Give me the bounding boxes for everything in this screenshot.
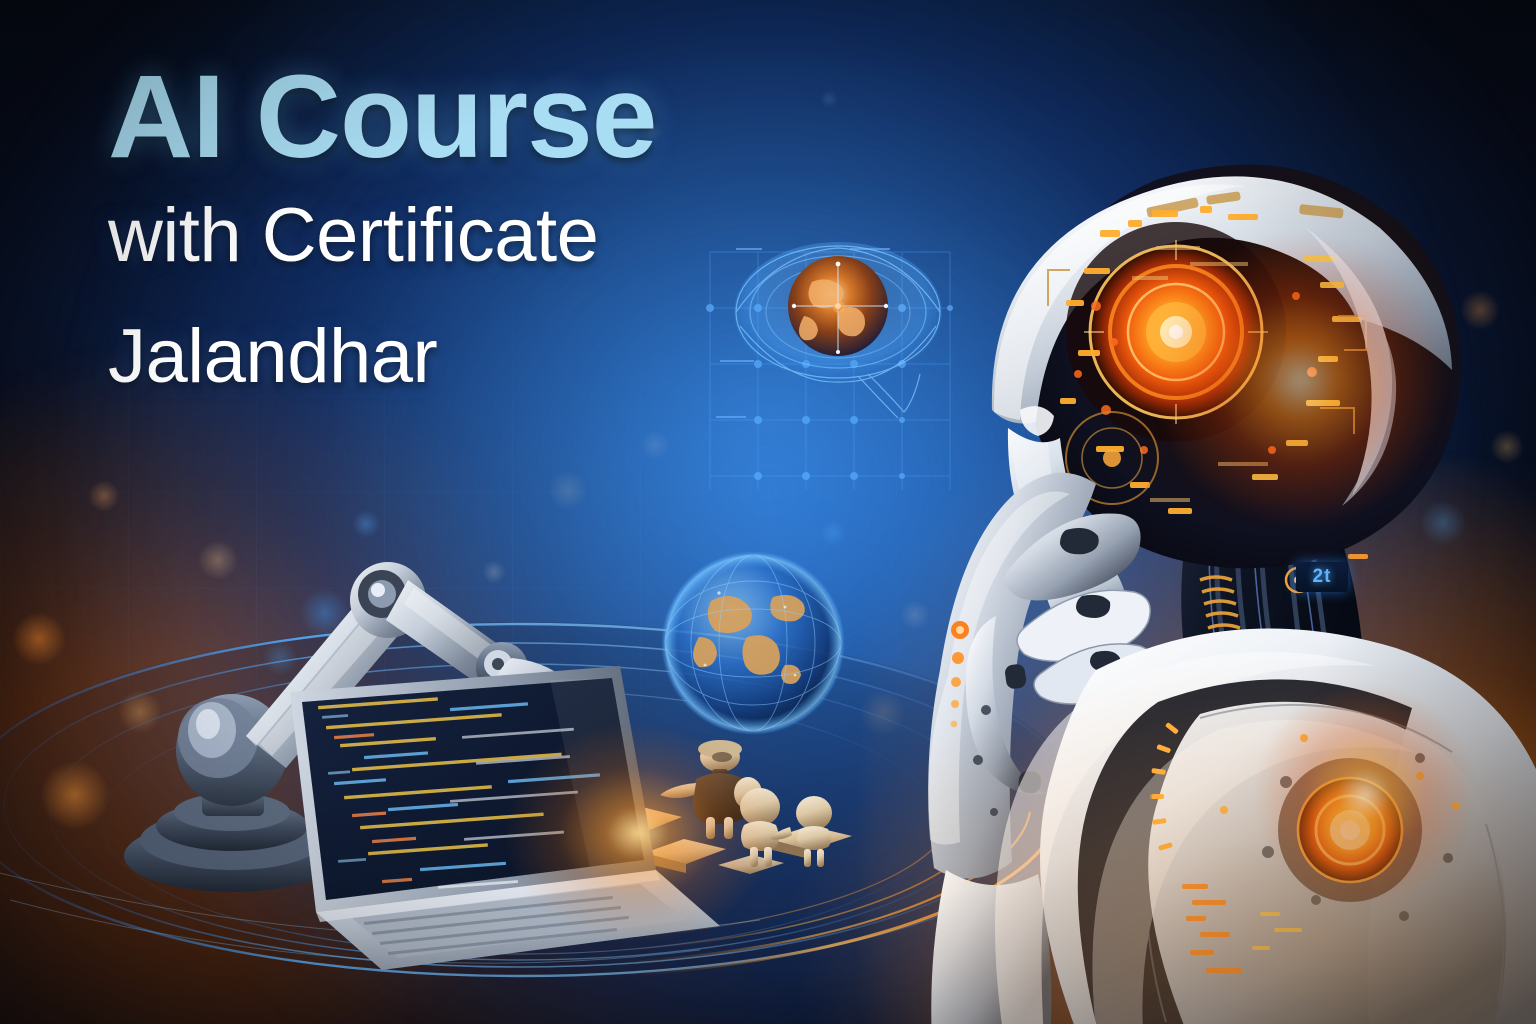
robot-eye-core <box>1066 222 1286 442</box>
headline-block: AI Course with Certificate Jalandhar <box>108 58 656 403</box>
headline-city: Jalandhar <box>108 311 656 404</box>
neck-display-badge: 2t <box>1296 562 1348 592</box>
robotic-arm-and-laptop <box>120 540 740 970</box>
figurine-medium <box>740 788 780 867</box>
ai-course-poster: 2t AI Course with Certificate Jalandhar <box>0 0 1536 1024</box>
android-robot <box>900 110 1536 1024</box>
laptop-screen <box>290 666 656 912</box>
shoulder-power-core <box>1278 758 1422 902</box>
headline-subtitle: with Certificate <box>108 190 656 283</box>
page-title: AI Course <box>108 58 656 176</box>
